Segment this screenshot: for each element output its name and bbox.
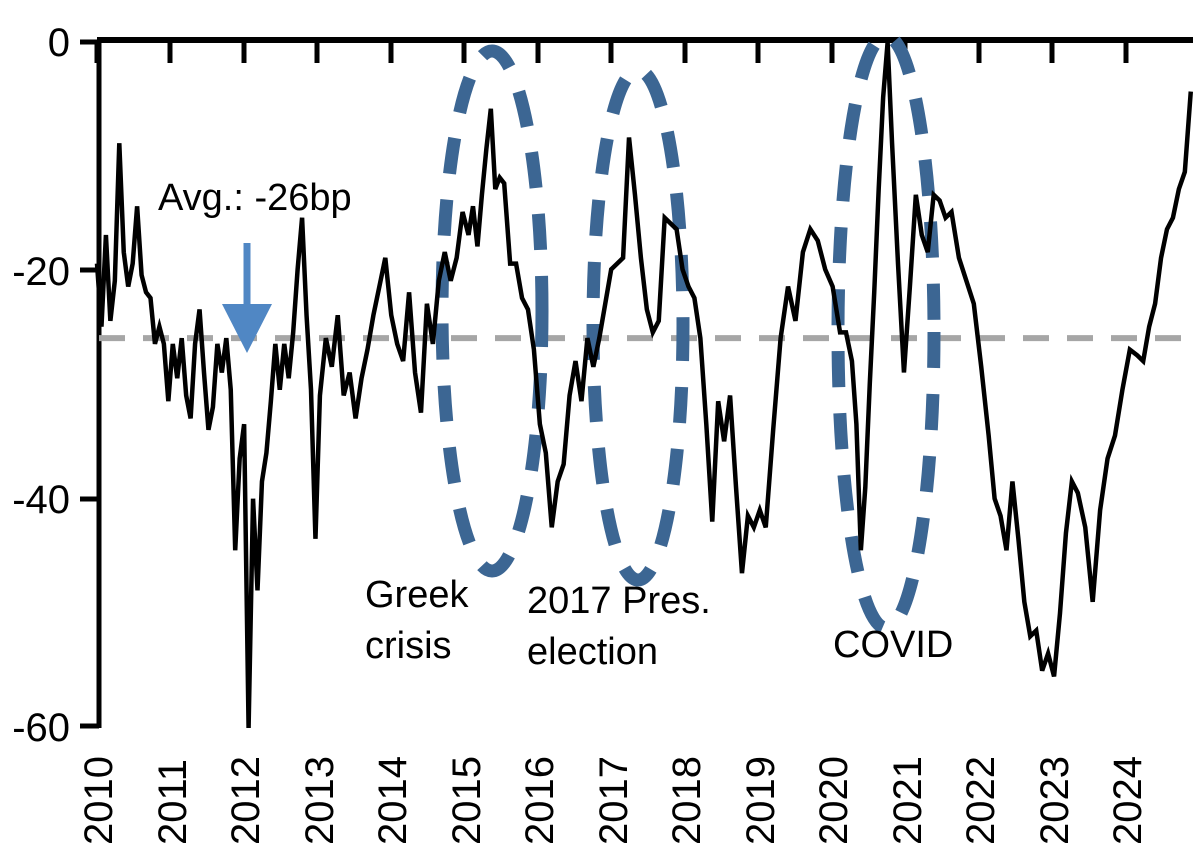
x-label-2012: 2012 [224,756,268,845]
x-label-2020: 2020 [812,756,856,845]
election-label-line2: election [527,631,658,673]
y-label-minus40: -40 [12,478,70,522]
x-label-2011: 2011 [151,759,195,845]
x-label-2019: 2019 [739,756,783,845]
chart-background [0,0,1200,852]
greek-crisis-label-line1: Greek [365,574,469,616]
election-label-line1: 2017 Pres. [527,580,711,622]
y-label-minus60: -60 [12,706,70,750]
x-label-2022: 2022 [959,756,1003,845]
greek-crisis-label-line2: crisis [365,625,452,667]
x-label-2010: 2010 [77,756,121,845]
avg-annotation-label: Avg.: -26bp [158,177,352,219]
x-label-2017: 2017 [592,756,636,845]
x-label-2024: 2024 [1106,756,1150,845]
x-label-2018: 2018 [665,756,709,845]
covid-label: COVID [833,624,953,666]
x-label-2023: 2023 [1033,756,1077,845]
y-label-minus20: -20 [12,250,70,294]
y-label-0: 0 [48,21,70,65]
x-label-2015: 2015 [445,756,489,845]
x-label-2016: 2016 [518,756,562,845]
line-chart: 0 -20 -40 -60 2010 2011 2012 2013 2014 2… [0,0,1200,852]
chart-container: 0 -20 -40 -60 2010 2011 2012 2013 2014 2… [0,0,1200,852]
x-label-2021: 2021 [886,756,930,845]
x-axis-labels: 2010 2011 2012 2013 2014 2015 2016 2017 … [77,756,1150,845]
x-label-2013: 2013 [298,756,342,845]
x-label-2014: 2014 [371,756,415,845]
